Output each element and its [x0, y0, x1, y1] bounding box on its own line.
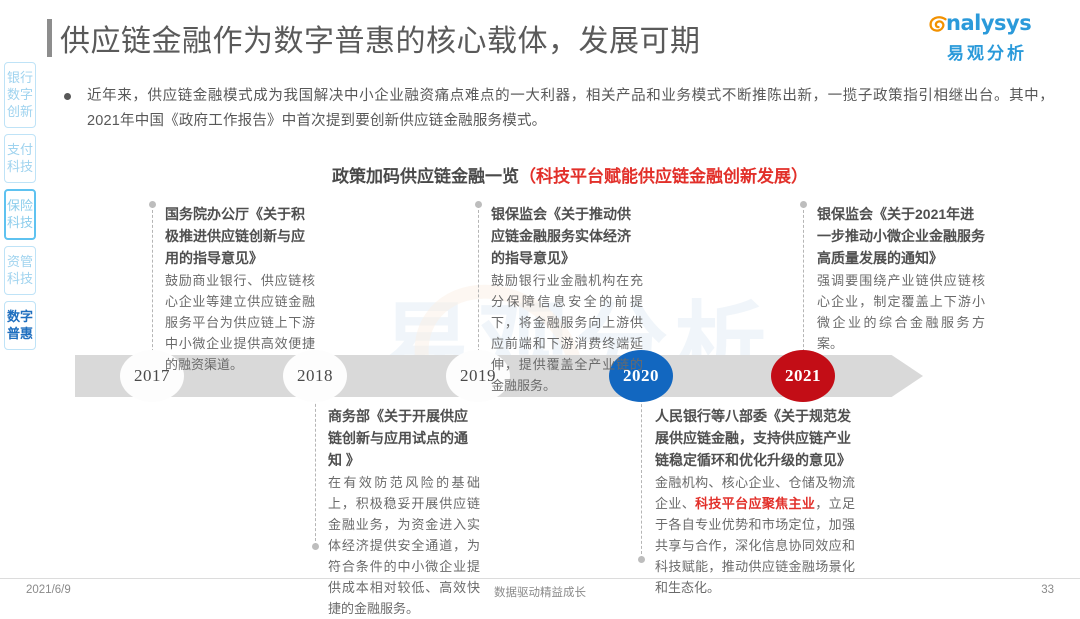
sidebar-item-digital-inclusive-finance[interactable]: 数字普惠	[4, 301, 36, 350]
title-accent-bar	[47, 19, 52, 57]
timeline-entry-2021: 银保监会《关于2021年进一步推动小微企业金融服务高质量发展的通知》 强调要围绕…	[817, 203, 985, 354]
entry-heading: 人民银行等八部委《关于规范发展供应链金融，支持供应链产业链稳定循环和优化升级的意…	[655, 405, 855, 471]
footer-page-number: 33	[1041, 584, 1054, 596]
timeline-node-2021[interactable]: 2021	[771, 350, 835, 402]
entry-body-highlight: 科技平台应聚焦主业	[695, 496, 815, 511]
entry-body: 金融机构、核心企业、仓储及物流企业、科技平台应聚焦主业，立足于各自专业优势和市场…	[655, 472, 855, 598]
entry-heading: 银保监会《关于2021年进一步推动小微企业金融服务高质量发展的通知》	[817, 203, 985, 269]
connector-2017	[152, 205, 154, 357]
sidebar-item-bank-digital-innovation[interactable]: 银行数字创新	[4, 62, 36, 128]
summary-bullet: 近年来，供应链金融模式成为我国解决中小企业融资痛点难点的一大利器，相关产品和业务…	[64, 84, 1054, 134]
timeline-entry-2017: 国务院办公厅《关于积极推进供应链创新与应用的指导意见》 鼓励商业银行、供应链核心…	[165, 203, 315, 375]
chart-title-highlight: （科技平台赋能供应链金融创新发展）	[519, 167, 808, 186]
entry-heading: 银保监会《关于推动供应链金融服务实体经济的指导意见》	[491, 203, 643, 269]
page-title: 供应链金融作为数字普惠的核心载体，发展可期	[60, 16, 701, 60]
chart-title: 政策加码供应链金融一览（科技平台赋能供应链金融创新发展）	[332, 162, 808, 187]
entry-heading: 商务部《关于开展供应链创新与应用试点的通知 》	[328, 405, 480, 471]
sidebar-item-payment-tech[interactable]: 支付科技	[4, 134, 36, 183]
connector-2021	[803, 205, 805, 357]
connector-dot-2020	[638, 556, 645, 563]
connector-dot-2019	[475, 201, 482, 208]
sidebar-item-label: 保险科技	[6, 197, 34, 231]
entry-body: 鼓励银行业金融机构在充分保障信息安全的前提下，将金融服务向上游供应前端和下游消费…	[491, 270, 643, 396]
bullet-dot-icon	[64, 93, 71, 100]
sidebar-item-label: 资管科技	[5, 253, 35, 287]
connector-dot-2017	[149, 201, 156, 208]
sidebar: 银行数字创新 支付科技 保险科技 资管科技 数字普惠	[4, 62, 38, 356]
timeline-entry-2019: 银保监会《关于推动供应链金融服务实体经济的指导意见》 鼓励银行业金融机构在充分保…	[491, 203, 643, 396]
connector-dot-2021	[800, 201, 807, 208]
analysys-logo: nalysys 易观分析	[924, 12, 1050, 60]
analysys-logo-cn: 易观分析	[924, 39, 1050, 64]
analysys-wordmark: nalysys	[946, 11, 1031, 35]
entry-heading: 国务院办公厅《关于积极推进供应链创新与应用的指导意见》	[165, 203, 315, 269]
summary-text: 近年来，供应链金融模式成为我国解决中小企业融资痛点难点的一大利器，相关产品和业务…	[87, 84, 1054, 134]
entry-body: 鼓励商业银行、供应链核心企业等建立供应链金融服务平台为供应链上下游中小微企业提供…	[165, 270, 315, 375]
connector-2020	[641, 394, 643, 559]
connector-2018	[315, 394, 317, 546]
sidebar-item-label: 支付科技	[5, 141, 35, 175]
footer-date: 2021/6/9	[26, 584, 71, 596]
connector-dot-2018	[312, 543, 319, 550]
chart-title-main: 政策加码供应链金融一览	[332, 167, 519, 186]
sidebar-item-insurance-tech[interactable]: 保险科技	[4, 189, 36, 240]
timeline-entry-2020: 人民银行等八部委《关于规范发展供应链金融，支持供应链产业链稳定循环和优化升级的意…	[655, 405, 855, 598]
sidebar-item-label: 数字普惠	[5, 308, 35, 342]
sidebar-item-label: 银行数字创新	[5, 69, 35, 120]
footer: 2021/6/9 数据驱动精益成长 33	[0, 582, 1080, 606]
footer-divider	[0, 578, 1080, 579]
connector-2019	[478, 205, 480, 357]
entry-body: 强调要围绕产业链供应链核心企业，制定覆盖上下游小微企业的综合金融服务方案。	[817, 270, 985, 354]
footer-slogan: 数据驱动精益成长	[494, 584, 586, 600]
sidebar-item-asset-management-tech[interactable]: 资管科技	[4, 246, 36, 295]
